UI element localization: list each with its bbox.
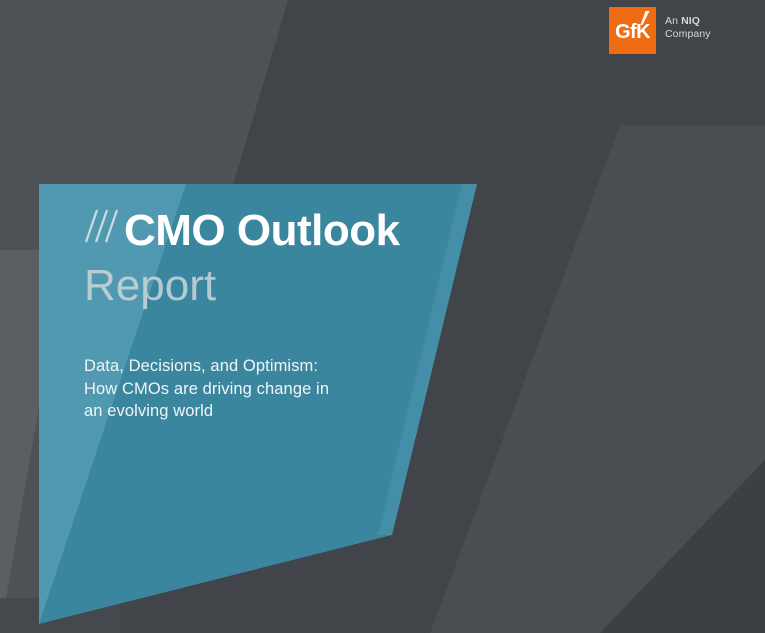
report-cover: GfK An NIQ Company CMO Outlook Report bbox=[0, 0, 765, 633]
svg-text:GfK: GfK bbox=[615, 21, 651, 43]
subtitle-line: Data, Decisions, and Optimism: bbox=[84, 355, 414, 378]
background-geometry bbox=[0, 0, 765, 633]
tagline-line-1: An NIQ bbox=[665, 15, 700, 27]
tagline-line-2: Company bbox=[665, 28, 711, 41]
brand-logo: GfK An NIQ Company bbox=[609, 7, 711, 54]
brand-tagline: An NIQ Company bbox=[665, 7, 711, 41]
cover-subtitle: Data, Decisions, and Optimism: How CMOs … bbox=[84, 355, 414, 423]
gfk-logo-mark: GfK bbox=[609, 7, 656, 54]
subtitle-line: an evolving world bbox=[84, 400, 414, 423]
tagline-prefix: An bbox=[665, 15, 681, 27]
page-title-second-line: Report bbox=[84, 258, 484, 314]
page-title-text: CMO Outlook bbox=[124, 206, 400, 256]
gfk-logo-glyph: GfK bbox=[609, 7, 656, 54]
accent-slashes-icon bbox=[84, 209, 122, 243]
page-title: CMO Outlook bbox=[84, 206, 484, 256]
cover-title-block: CMO Outlook Report bbox=[84, 206, 484, 314]
tagline-niq: NIQ bbox=[681, 15, 700, 27]
subtitle-line: How CMOs are driving change in bbox=[84, 378, 414, 401]
